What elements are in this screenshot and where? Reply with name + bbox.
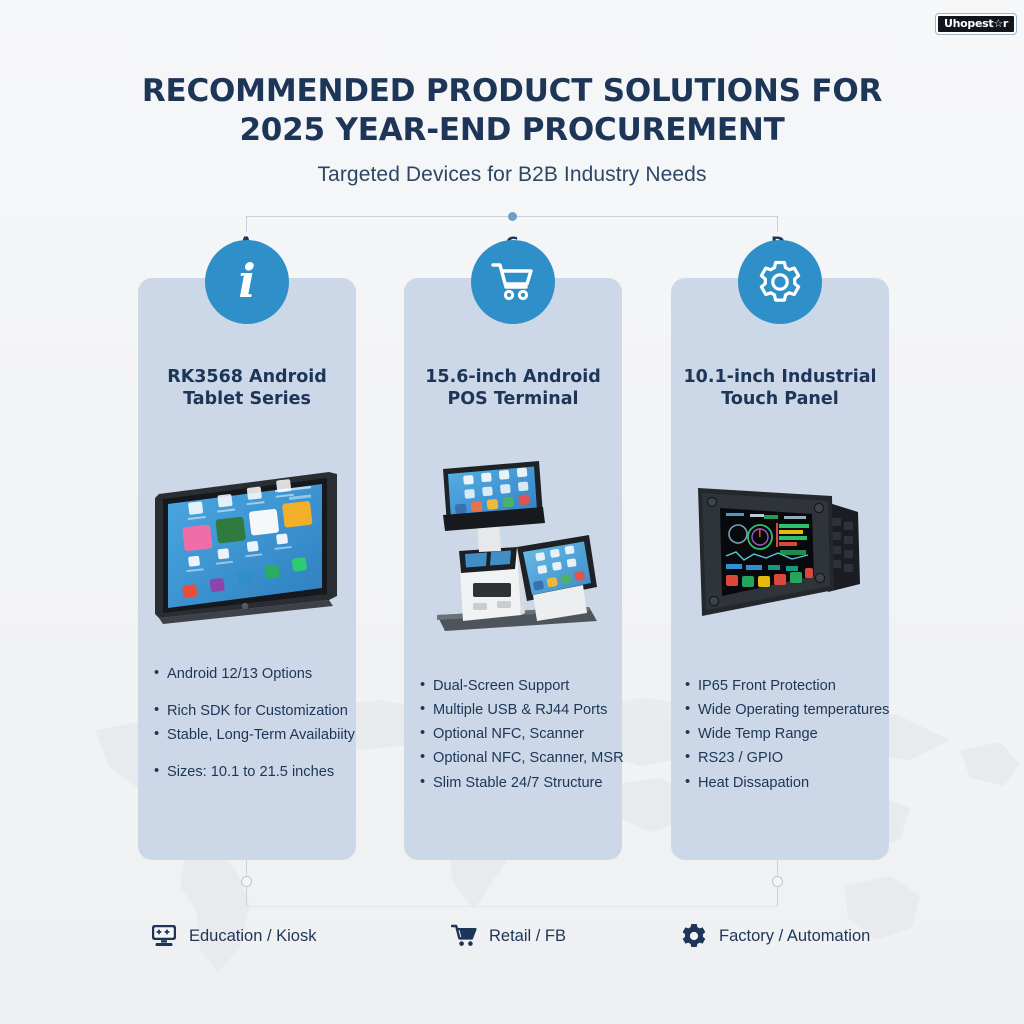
- shopping-cart-icon: [471, 240, 555, 324]
- page-header: RECOMMENDED PRODUCT SOLUTIONS FOR 2025 Y…: [0, 72, 1024, 187]
- list-item: Multiple USB & RJ44 Ports: [420, 700, 614, 721]
- card-title-b-line-2: POS Terminal: [414, 388, 612, 410]
- product-card-industrial-panel[interactable]: 10.1-inch Industrial Touch Panel: [671, 278, 889, 860]
- connector-center-dot: [508, 212, 517, 221]
- android-tablet-photo: [138, 450, 356, 650]
- card-a-feature-list: Android 12/13 Options Rich SDK for Custo…: [154, 664, 348, 800]
- connector-stem-right: [777, 216, 778, 232]
- legend-item-education-kiosk[interactable]: Education / Kiosk: [150, 922, 450, 950]
- list-item: RS23 / GPIO: [685, 748, 881, 769]
- connector-stem-left: [246, 216, 247, 232]
- info-icon-glyph: i: [238, 258, 255, 304]
- info-icon: i: [205, 240, 289, 324]
- page-title-line-2: 2025 YEAR-END PROCUREMENT: [0, 111, 1024, 150]
- watermark-badge: Uhopest☆r: [936, 14, 1016, 34]
- legend-item-retail-fb[interactable]: Retail / FB: [450, 922, 680, 950]
- industrial-touch-panel-photo: [671, 450, 889, 650]
- list-item: Wide Temp Range: [685, 724, 881, 745]
- list-item: Optional NFC, Scanner, MSR: [420, 748, 614, 769]
- monitor-icon: [150, 922, 178, 950]
- list-item: Slim Stable 24/7 Structure: [420, 773, 614, 794]
- legend-item-factory-automation[interactable]: Factory / Automation: [680, 922, 910, 950]
- list-item: Sizes: 10.1 to 21.5 inches: [154, 762, 348, 783]
- card-b-feature-list: Dual-Screen Support Multiple USB & RJ44 …: [420, 676, 614, 797]
- card-title-c: 10.1-inch Industrial Touch Panel: [681, 366, 879, 411]
- list-item: Android 12/13 Options: [154, 664, 348, 685]
- card-title-b-line-1: 15.6-inch Android: [414, 366, 612, 388]
- list-item: Wide Operating temperatures: [685, 700, 881, 721]
- gear-icon: [680, 922, 708, 950]
- card-c-feature-list: IP65 Front Protection Wide Operating tem…: [685, 676, 881, 797]
- legend-label-factory-automation: Factory / Automation: [719, 927, 870, 946]
- shopping-cart-icon: [450, 922, 478, 950]
- card-title-c-line-1: 10.1-inch Industrial: [681, 366, 879, 388]
- list-item: Stable, Long-Term Availabiity: [154, 725, 348, 746]
- card-title-c-line-2: Touch Panel: [681, 388, 879, 410]
- list-item: Dual-Screen Support: [420, 676, 614, 697]
- gear-icon: [738, 240, 822, 324]
- card-title-a-line-2: Tablet Series: [148, 388, 346, 410]
- dual-screen-pos-terminal-photo: [404, 450, 622, 650]
- legend-row: Education / Kiosk Retail / FB Factor: [150, 922, 910, 950]
- list-item: Rich SDK for Customization: [154, 701, 348, 722]
- infographic-canvas: Uhopest☆r RECOMMENDED PRODUCT SOLUTIONS …: [0, 0, 1024, 1024]
- watermark-text: Uhopest☆r: [944, 18, 1008, 29]
- list-item: Optional NFC, Scanner: [420, 724, 614, 745]
- legend-label-education-kiosk: Education / Kiosk: [189, 927, 317, 946]
- card-title-b: 15.6-inch Android POS Terminal: [414, 366, 612, 411]
- bottom-stem-right-lower: [777, 886, 778, 906]
- product-card-rk3568-tablet[interactable]: i RK3568 Android Tablet Series: [138, 278, 356, 860]
- card-title-a: RK3568 Android Tablet Series: [148, 366, 346, 411]
- product-card-pos-terminal[interactable]: 15.6-inch Android POS Terminal: [404, 278, 622, 860]
- card-title-a-line-1: RK3568 Android: [148, 366, 346, 388]
- page-subtitle: Targeted Devices for B2B Industry Needs: [0, 163, 1024, 187]
- page-title-line-1: RECOMMENDED PRODUCT SOLUTIONS FOR: [0, 72, 1024, 111]
- bottom-baseline: [246, 906, 778, 907]
- bottom-connector: [246, 860, 778, 908]
- bottom-stem-left-lower: [246, 886, 247, 906]
- list-item: Heat Dissapation: [685, 773, 881, 794]
- list-item: IP65 Front Protection: [685, 676, 881, 697]
- legend-label-retail-fb: Retail / FB: [489, 927, 566, 946]
